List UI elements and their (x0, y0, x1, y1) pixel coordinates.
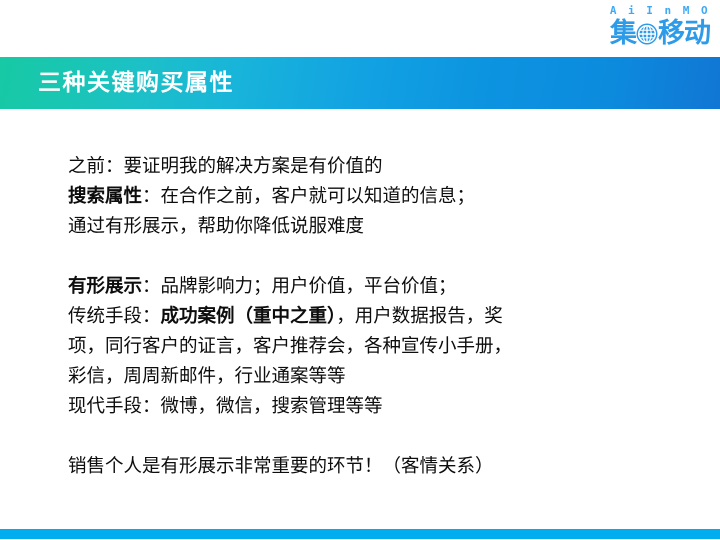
logo-chinese-wordmark: 集 移动 (608, 18, 712, 50)
body-line-before-seg-0: 之前：要证明我的解决方案是有价值的 (68, 156, 383, 177)
logo-latin-text: A i I n M O (608, 4, 712, 17)
body-line-traditional-means-cont: 项，同行客户的证言，客户推荐会，各种宣传小手册， (68, 332, 668, 362)
body-line-modern-means: 现代手段：微博，微信，搜索管理等等 (68, 392, 668, 422)
globe-circle-icon (635, 22, 659, 46)
logo-char-yidong: 移动 (658, 19, 710, 49)
body-line-spacer-1 (68, 242, 668, 272)
jizhuo-yidong-logo: A i I n M O 集 移动 (608, 4, 712, 52)
body-line-traditional-means-seg-2: ，用户数据报告，奖 (336, 306, 503, 327)
body-line-search-attribute: 搜索属性：在合作之前，客户就可以知道的信息； (68, 182, 668, 212)
body-line-traditional-means-seg-0: 传统手段： (68, 306, 161, 327)
body-line-search-attribute-seg-1: ：在合作之前，客户就可以知道的信息； (142, 186, 475, 207)
body-line-spacer-2 (68, 422, 668, 452)
title-banner: 三种关键购买属性 (0, 57, 720, 109)
body-content: 之前：要证明我的解决方案是有价值的搜索属性：在合作之前，客户就可以知道的信息；通… (68, 152, 668, 482)
footer-accent-bar (0, 529, 720, 539)
body-line-traditional-means: 传统手段：成功案例（重中之重），用户数据报告，奖 (68, 302, 668, 332)
slide-canvas: A i I n M O 集 移动 三种关键购买属性 之前：要证明我的解决方案是有… (0, 0, 720, 540)
body-line-traditional-means-cont2: 彩信，周周新邮件，行业通案等等 (68, 362, 668, 392)
body-line-search-attribute-seg-0: 搜索属性 (68, 186, 142, 207)
body-line-modern-means-seg-0: 现代手段：微博，微信，搜索管理等等 (68, 396, 383, 417)
body-line-traditional-means-cont2-seg-0: 彩信，周周新邮件，行业通案等等 (68, 366, 346, 387)
body-line-before: 之前：要证明我的解决方案是有价值的 (68, 152, 668, 182)
body-line-tangible-display-seg-1: ：品牌影响力；用户价值，平台价值； (142, 276, 457, 297)
body-line-conclusion-seg-0: 销售个人是有形展示非常重要的环节！（客情关系） (68, 456, 494, 477)
body-line-tangible-display-seg-0: 有形展示 (68, 276, 142, 297)
body-line-tangible-help: 通过有形展示，帮助你降低说服难度 (68, 212, 668, 242)
page-title: 三种关键购买属性 (38, 57, 234, 109)
body-line-tangible-display: 有形展示：品牌影响力；用户价值，平台价值； (68, 272, 668, 302)
body-line-tangible-help-seg-0: 通过有形展示，帮助你降低说服难度 (68, 216, 364, 237)
logo-char-ji: 集 (610, 19, 636, 49)
body-line-traditional-means-cont-seg-0: 项，同行客户的证言，客户推荐会，各种宣传小手册， (68, 336, 512, 357)
body-line-conclusion: 销售个人是有形展示非常重要的环节！（客情关系） (68, 452, 668, 482)
body-line-traditional-means-seg-1: 成功案例（重中之重） (161, 306, 337, 327)
